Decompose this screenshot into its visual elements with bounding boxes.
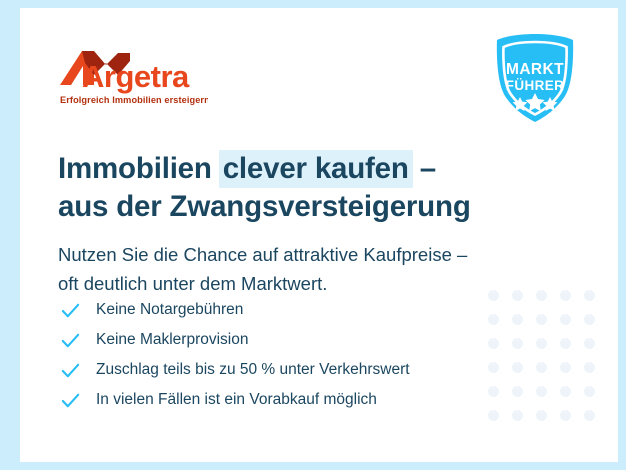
grid-dot [584, 386, 595, 397]
subheadline: Nutzen Sie die Chance auf attraktive Kau… [58, 240, 538, 298]
badge-line1-text: MARKT [506, 61, 564, 78]
grid-dot [536, 314, 547, 325]
list-item: Keine Notargebühren [60, 295, 410, 325]
grid-dot [584, 410, 595, 421]
headline-line-1: Immobilien clever kaufen – [58, 150, 528, 188]
headline-after-text: – [412, 152, 436, 185]
badge-line2-text: FÜHRER [506, 78, 565, 93]
benefit-label: Keine Maklerprovision [96, 330, 249, 350]
list-item: Zuschlag teils bis zu 50 % unter Verkehr… [60, 355, 410, 385]
grid-dot [488, 314, 499, 325]
promo-banner: Argetra Erfolgreich Immobilien ersteiger… [0, 0, 626, 470]
grid-dot [488, 410, 499, 421]
argetra-logo[interactable]: Argetra Erfolgreich Immobilien ersteiger… [58, 39, 208, 109]
grid-dot [512, 362, 523, 373]
grid-dot [560, 410, 571, 421]
grid-dot [560, 314, 571, 325]
grid-dot [512, 314, 523, 325]
grid-dot [560, 386, 571, 397]
subheadline-line-2: oft deutlich unter dem Marktwert. [58, 269, 538, 298]
markt-fuehrer-badge: MARKT FÜHRER [487, 30, 583, 126]
grid-dot [488, 386, 499, 397]
benefit-label: Zuschlag teils bis zu 50 % unter Verkehr… [96, 360, 410, 380]
check-icon [60, 330, 81, 351]
grid-dot [584, 362, 595, 373]
headline: Immobilien clever kaufen – aus der Zwang… [58, 150, 528, 226]
grid-dot [512, 386, 523, 397]
check-icon [60, 360, 81, 381]
svg-text:Erfolgreich Immobilien ersteig: Erfolgreich Immobilien ersteigern [60, 95, 208, 105]
grid-dot [536, 362, 547, 373]
grid-dot [560, 362, 571, 373]
list-item: In vielen Fällen ist ein Vorabkauf mögli… [60, 385, 410, 415]
grid-dot [584, 314, 595, 325]
dot-grid-decoration [488, 290, 608, 434]
grid-dot [584, 290, 595, 301]
banner-canvas: Argetra Erfolgreich Immobilien ersteiger… [20, 8, 618, 462]
grid-dot [536, 410, 547, 421]
benefit-list: Keine Notargebühren Keine Maklerprovisio… [60, 295, 410, 415]
grid-dot [584, 338, 595, 349]
grid-dot [536, 386, 547, 397]
grid-dot [488, 338, 499, 349]
check-icon [60, 300, 81, 321]
headline-before-text: Immobilien [58, 152, 220, 185]
svg-text:Argetra: Argetra [82, 59, 190, 94]
subheadline-line-1: Nutzen Sie die Chance auf attraktive Kau… [58, 240, 538, 269]
benefit-label: Keine Notargebühren [96, 300, 243, 320]
list-item: Keine Maklerprovision [60, 325, 410, 355]
headline-highlight: clever kaufen [219, 150, 413, 188]
grid-dot [560, 290, 571, 301]
grid-dot [512, 410, 523, 421]
grid-dot [536, 338, 547, 349]
benefit-label: In vielen Fällen ist ein Vorabkauf mögli… [96, 390, 377, 410]
grid-dot [560, 338, 571, 349]
check-icon [60, 390, 81, 411]
grid-dot [512, 338, 523, 349]
grid-dot [488, 362, 499, 373]
headline-line-2: aus der Zwangsversteigerung [58, 188, 528, 226]
